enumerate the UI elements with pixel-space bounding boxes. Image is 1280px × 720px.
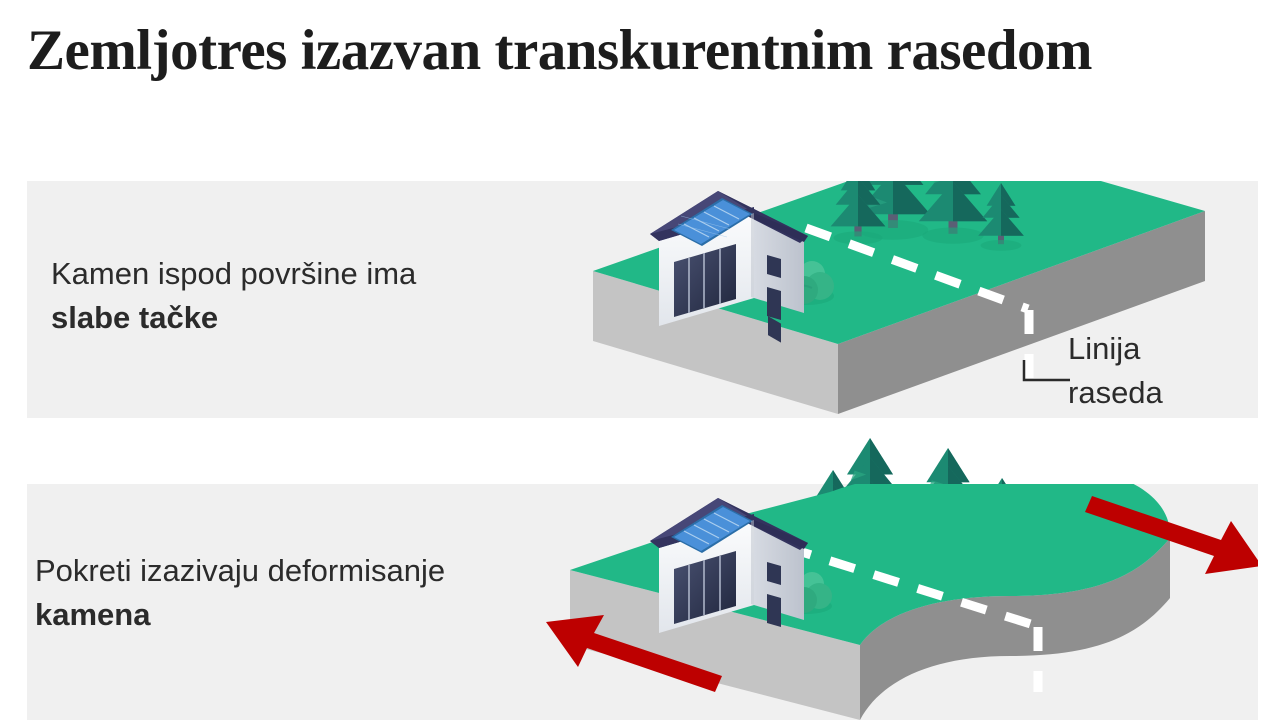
panel-bottom-text: Pokreti izazivaju deformisanje kamena bbox=[35, 549, 445, 637]
page-title: Zemljotres izazvan transkurentnim rasedo… bbox=[27, 20, 1257, 82]
infographic-root: Zemljotres izazvan transkurentnim rasedo… bbox=[0, 0, 1280, 720]
panel-bottom-line1: Pokreti izazivaju deformisanje bbox=[35, 549, 445, 593]
panel-top-line2: slabe tačke bbox=[51, 296, 416, 340]
fault-line-label: Linija raseda bbox=[1068, 327, 1163, 415]
fault-label-line1: Linija bbox=[1068, 327, 1163, 371]
panel-top-text: Kamen ispod površine ima slabe tačke bbox=[51, 252, 416, 340]
panel-top-line1: Kamen ispod površine ima bbox=[51, 252, 416, 296]
fault-label-line2: raseda bbox=[1068, 371, 1163, 415]
fault-label-leader-line bbox=[1020, 360, 1080, 390]
panel-bottom: Pokreti izazivaju deformisanje kamena bbox=[27, 484, 1258, 720]
panel-bottom-line2: kamena bbox=[35, 593, 445, 637]
